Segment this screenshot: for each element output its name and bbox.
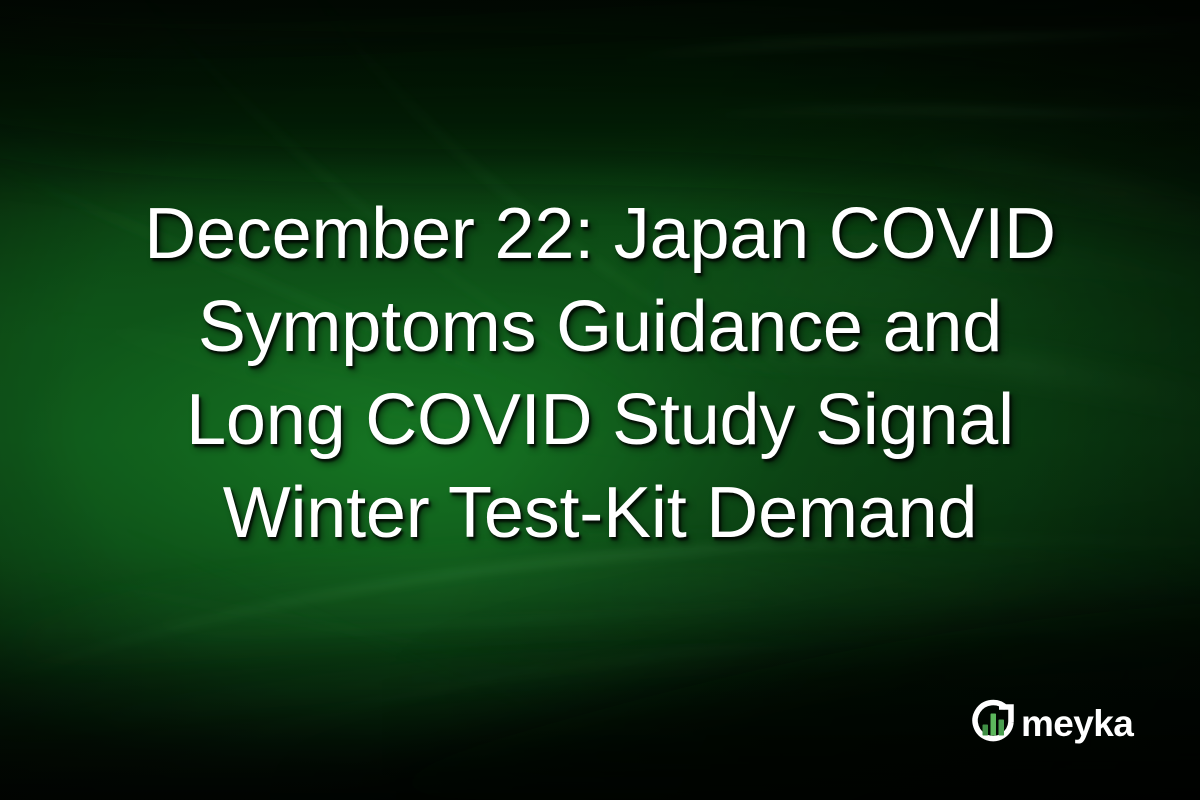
meyka-logo[interactable]: meyka: [968, 697, 1133, 747]
meyka-circular-bar-chart-mark: [968, 697, 1018, 747]
banner-headline: December 22: Japan COVID Symptoms Guidan…: [60, 188, 1140, 560]
banner: December 22: Japan COVID Symptoms Guidan…: [0, 0, 1200, 800]
meyka-wordmark: meyka: [1021, 705, 1133, 742]
